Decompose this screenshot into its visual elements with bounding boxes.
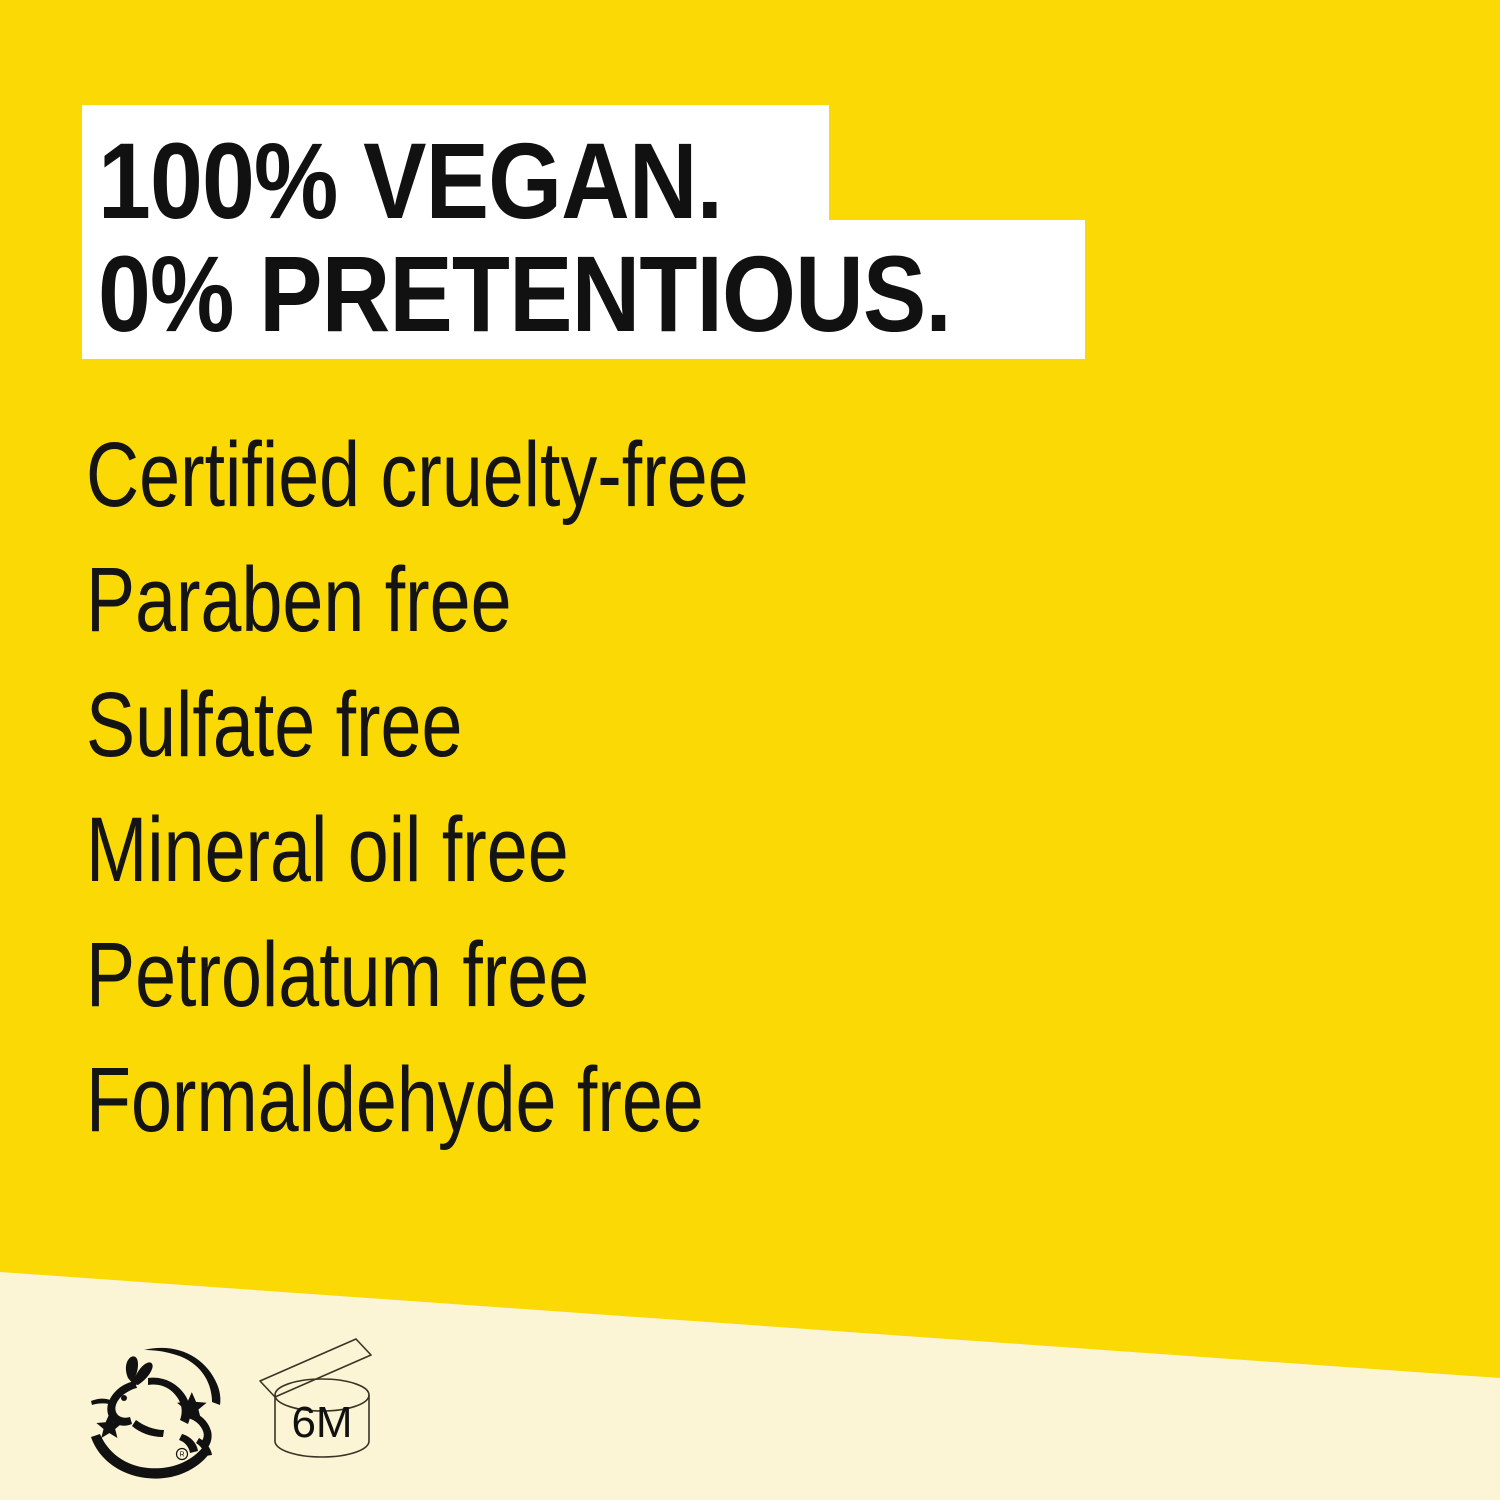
headline-block: 100% VEGAN. 0% PRETENTIOUS.: [0, 0, 1500, 400]
open-jar-pao-icon: 6M: [258, 1338, 386, 1488]
claim-item-petrolatum-free: Petrolatum free: [86, 913, 966, 1038]
headline-line-1: 100% VEGAN.: [98, 127, 722, 235]
claim-item-certified-cruelty-free: Certified cruelty-free: [86, 413, 966, 538]
claims-list: Certified cruelty-free Paraben free Sulf…: [86, 413, 1186, 1163]
headline-line-2: 0% PRETENTIOUS.: [98, 240, 951, 348]
svg-text:R: R: [179, 1452, 184, 1459]
claim-item-formaldehyde-free: Formaldehyde free: [86, 1038, 966, 1163]
claim-item-paraben-free: Paraben free: [86, 538, 966, 663]
leaping-bunny-icon: R: [78, 1338, 228, 1480]
certification-badge-strip: R 6M: [78, 1338, 386, 1488]
product-claims-panel: 100% VEGAN. 0% PRETENTIOUS. Certified cr…: [0, 0, 1500, 1500]
claim-item-sulfate-free: Sulfate free: [86, 663, 966, 788]
pao-duration-label: 6M: [291, 1398, 352, 1447]
claim-item-mineral-oil-free: Mineral oil free: [86, 788, 966, 913]
